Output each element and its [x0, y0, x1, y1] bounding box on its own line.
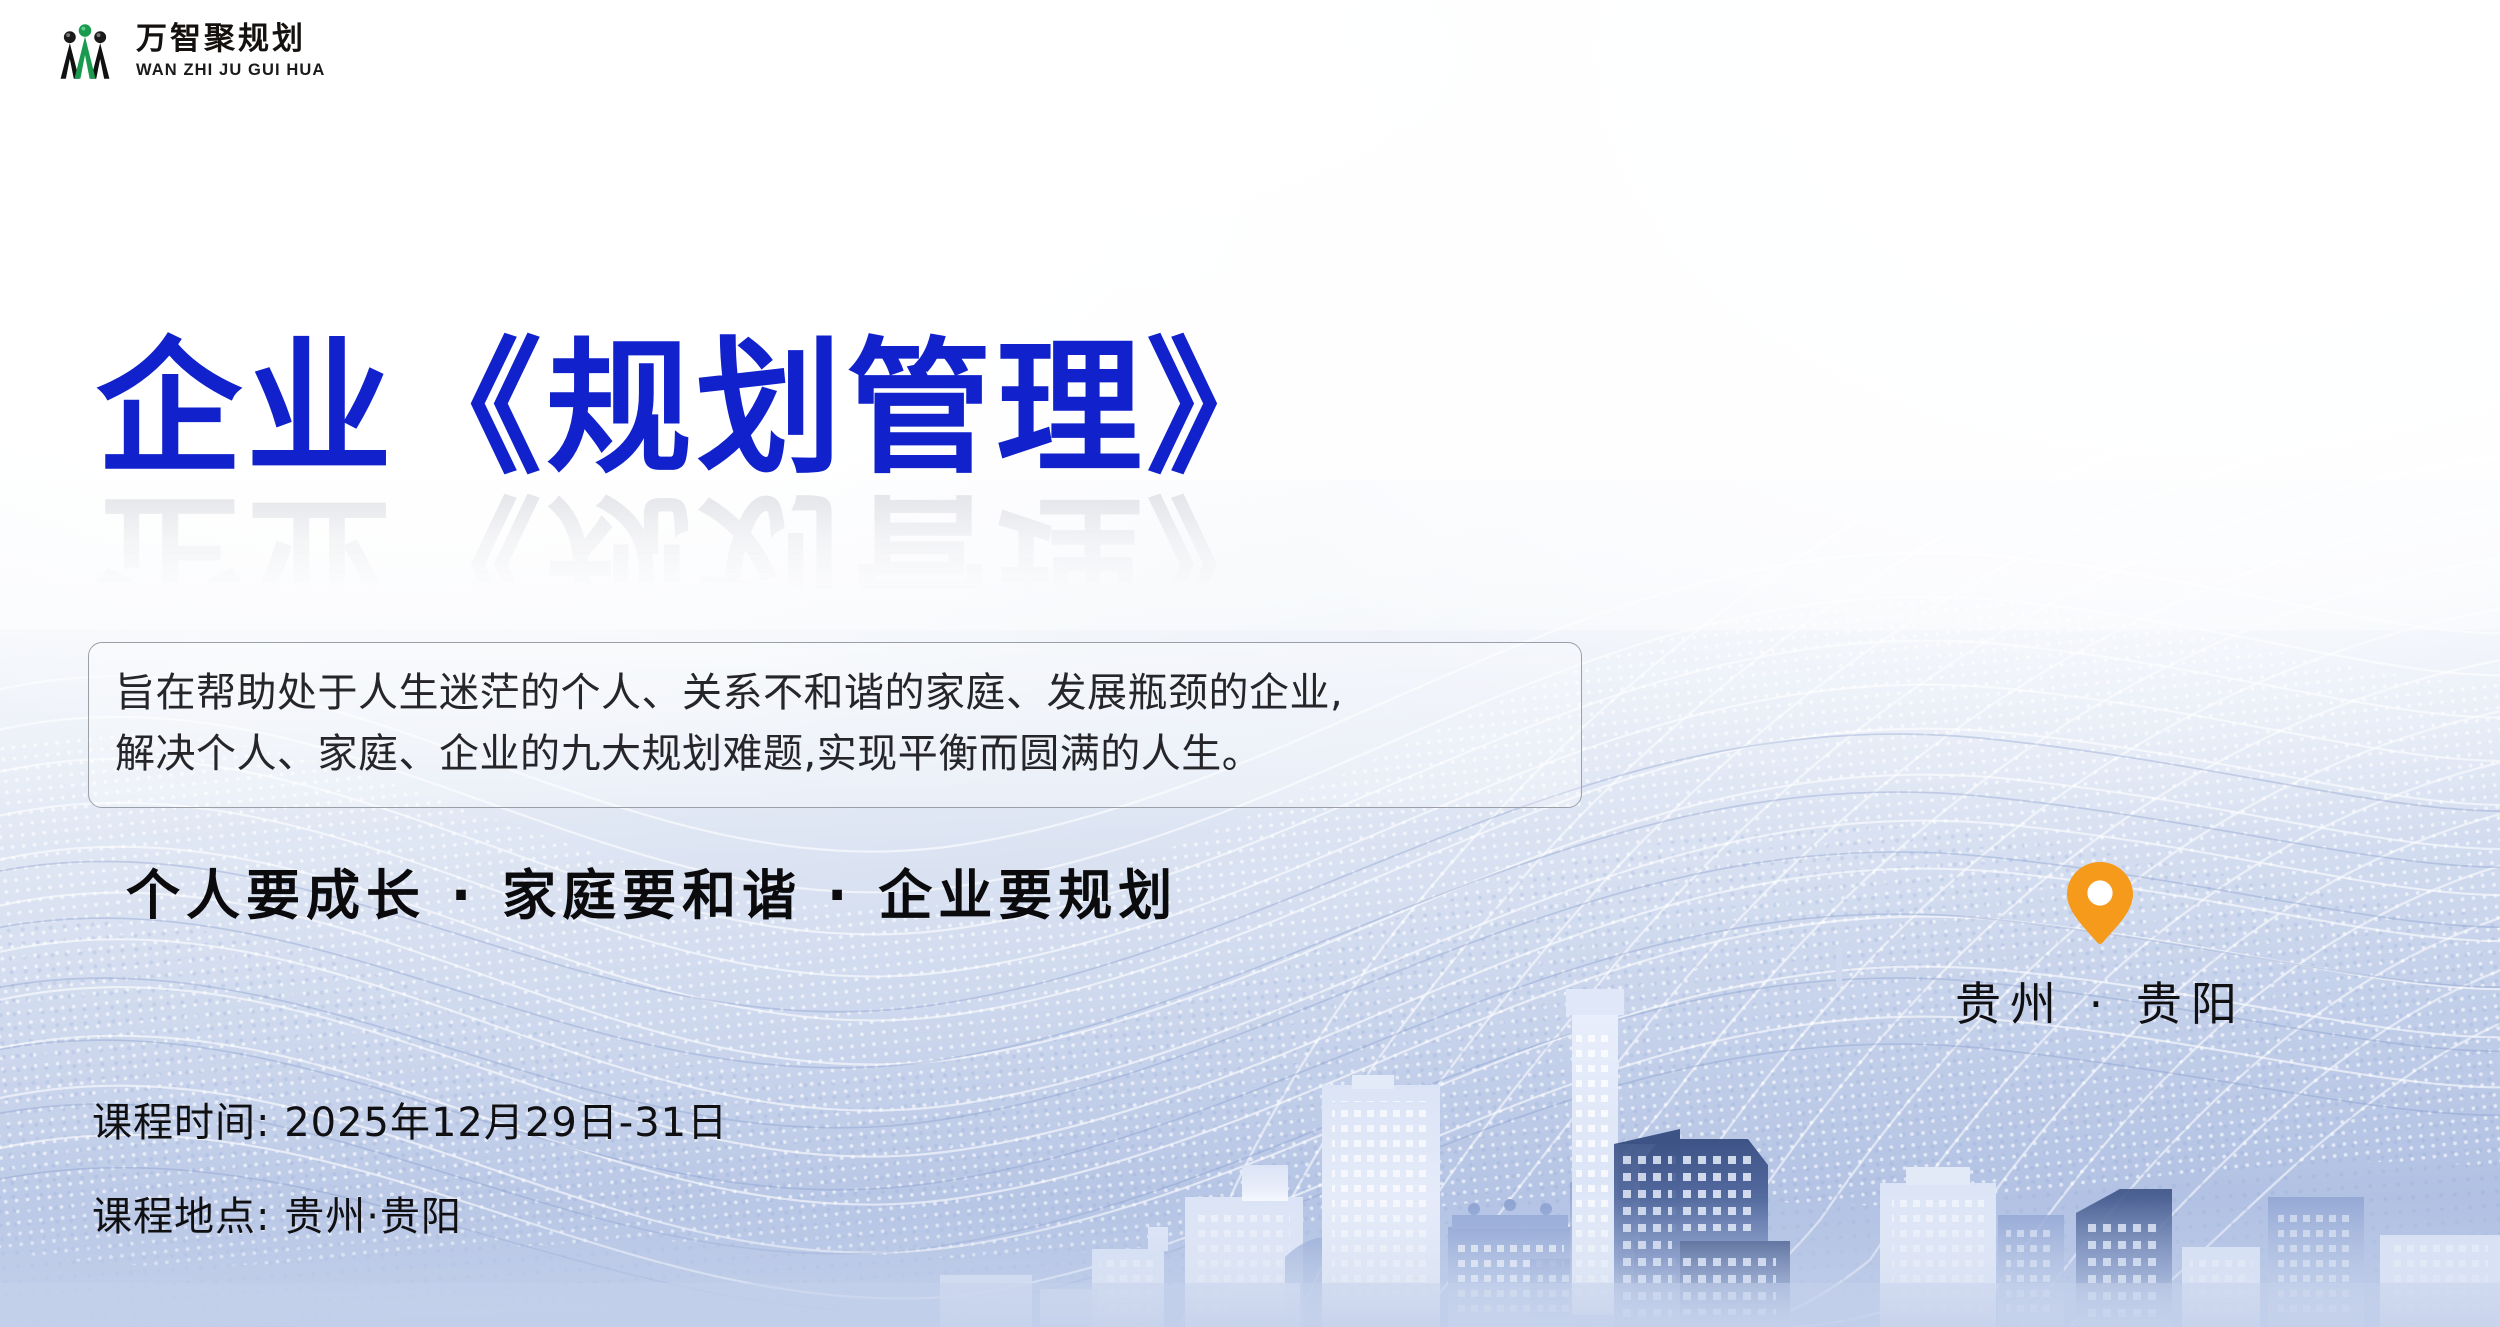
- brand-wordmark: 万智聚规划 WAN ZHI JU GUI HUA: [136, 24, 325, 79]
- course-time: 课程时间: 2025年12月29日-31日: [92, 1090, 728, 1148]
- brand-name-cn: 万智聚规划: [136, 24, 325, 55]
- slogan-text: 个人要成长 · 家庭要和谐 · 企业要规划: [126, 851, 1178, 930]
- location-badge: 贵州 · 贵阳: [1955, 860, 2246, 1034]
- brand-name-pinyin: WAN ZHI JU GUI HUA: [136, 62, 325, 79]
- hero-title-block: 企业《规划管理》 企业《规划管理》: [96, 336, 1296, 632]
- poster-canvas: 万智聚规划 WAN ZHI JU GUI HUA 企业《规划管理》 企业《规划管…: [0, 0, 2500, 1327]
- description-box: 旨在帮助处于人生迷茫的个人、关系不和谐的家庭、发展瓶颈的企业, 解决个人、家庭、…: [88, 642, 1582, 808]
- three-people-logo-icon: [52, 18, 118, 84]
- brand-header: 万智聚规划 WAN ZHI JU GUI HUA: [52, 18, 325, 84]
- description-line-1: 旨在帮助处于人生迷茫的个人、关系不和谐的家庭、发展瓶颈的企业,: [115, 663, 1555, 724]
- course-meta-block: 课程时间: 2025年12月29日-31日 课程地点: 贵州·贵阳: [92, 1090, 728, 1242]
- description-line-2: 解决个人、家庭、企业的九大规划难题,实现平衡而圆满的人生。: [115, 724, 1555, 785]
- course-place: 课程地点: 贵州·贵阳: [92, 1184, 728, 1242]
- page-title-reflection: 企业《规划管理》: [96, 486, 1296, 632]
- location-label: 贵州 · 贵阳: [1955, 968, 2246, 1034]
- map-pin-icon: [2063, 860, 2137, 946]
- page-title: 企业《规划管理》: [96, 336, 1296, 482]
